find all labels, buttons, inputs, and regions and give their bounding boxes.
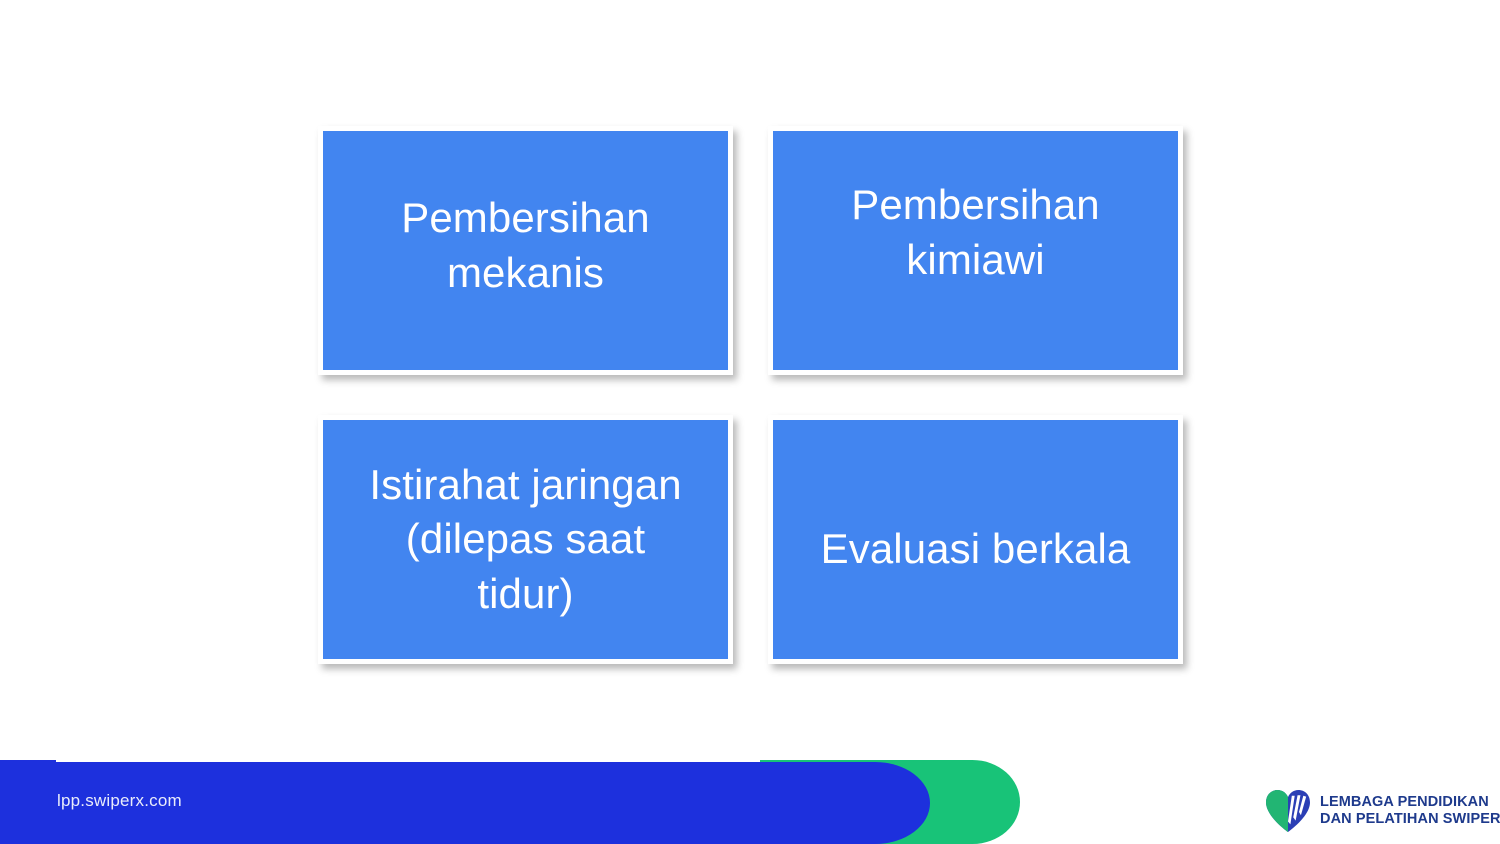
footer-band-tab bbox=[0, 760, 56, 766]
slide-canvas: Pembersihan mekanis Pembersihan kimiawi … bbox=[0, 0, 1500, 844]
card-label: Istirahat jaringan (dilepas saat tidur) bbox=[369, 458, 681, 621]
logo-wordmark: LEMBAGA PENDIDIKAN DAN PELATIHAN SWIPERX bbox=[1320, 794, 1500, 828]
logo-line-1: LEMBAGA PENDIDIKAN bbox=[1320, 794, 1500, 811]
footer-url-text: lpp.swiperx.com bbox=[57, 791, 182, 811]
brand-logo: LEMBAGA PENDIDIKAN DAN PELATIHAN SWIPERX bbox=[1264, 786, 1486, 836]
card-grid: Pembersihan mekanis Pembersihan kimiawi … bbox=[0, 0, 1500, 844]
logo-line-2: DAN PELATIHAN SWIPERX bbox=[1320, 811, 1500, 828]
card-evaluasi-berkala[interactable]: Evaluasi berkala bbox=[768, 415, 1183, 664]
heart-logo-icon bbox=[1264, 789, 1312, 833]
card-istirahat-jaringan[interactable]: Istirahat jaringan (dilepas saat tidur) bbox=[318, 415, 733, 664]
card-pembersihan-mekanis[interactable]: Pembersihan mekanis bbox=[318, 126, 733, 375]
card-label: Pembersihan mekanis bbox=[401, 191, 650, 299]
card-pembersihan-kimiawi[interactable]: Pembersihan kimiawi bbox=[768, 126, 1183, 375]
card-label: Pembersihan kimiawi bbox=[851, 178, 1100, 286]
card-label: Evaluasi berkala bbox=[821, 522, 1131, 576]
